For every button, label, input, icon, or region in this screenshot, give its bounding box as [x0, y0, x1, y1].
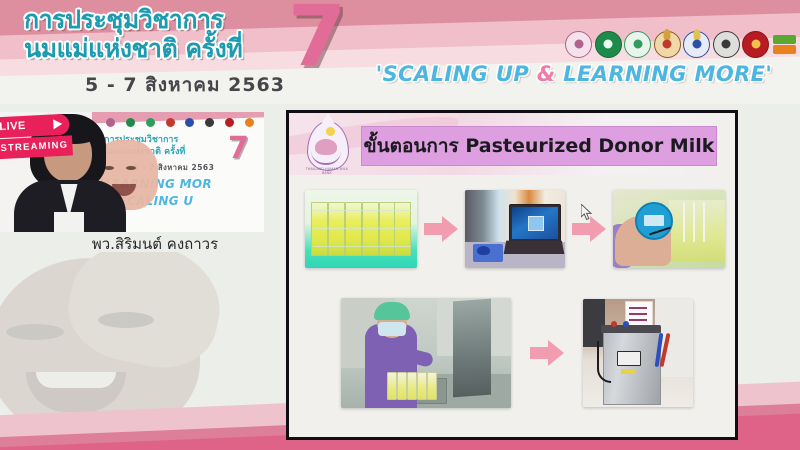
- process-row-bottom: [341, 293, 693, 413]
- conference-date: 5 - 7 สิงหาคม 2563: [80, 70, 290, 100]
- poster-logo-2: [126, 118, 135, 127]
- play-icon: [53, 119, 63, 129]
- tagline-prefix: 'SCALING UP: [376, 62, 537, 86]
- live-badge-sub: STREAMING: [0, 135, 73, 160]
- pasteurizer-machine-photo: [583, 299, 693, 407]
- thai-breastfeeding-foundation-logo: [565, 31, 592, 58]
- university-seal-logo: [713, 31, 740, 58]
- poster-logo-6: [205, 118, 214, 127]
- conference-title: การประชุมวิชาการ นมแม่แห่งชาติ ครั้งที่: [24, 4, 292, 65]
- conference-title-line2: นมแม่แห่งชาติ ครั้งที่: [24, 33, 292, 65]
- presentation-slide[interactable]: THAILAND HUMAN MILK BANK ขั้นตอนการ Past…: [286, 110, 738, 440]
- medical-council-logo: [742, 31, 769, 58]
- speaker-name-label: พว.สิริมนต์ คงถาวร: [40, 232, 270, 256]
- poster-logo-4: [166, 118, 175, 127]
- process-row-top: [305, 185, 725, 273]
- process-arrow-3: [530, 340, 564, 366]
- slide-title: ขั้นตอนการ Pasteurized Donor Milk: [361, 126, 717, 166]
- nurse-loading-bottles-photo: [341, 298, 511, 408]
- poster-logos-strip: [106, 116, 254, 128]
- live-streaming-badge: LIVE STREAMING: [0, 114, 71, 163]
- conference-tagline: 'SCALING UP & LEARNING MORE': [360, 62, 788, 86]
- royal-emblem-logo: [683, 31, 710, 58]
- conference-banner: การประชุมวิชาการ นมแม่แห่งชาติ ครั้งที่ …: [0, 0, 800, 104]
- mouse-pointer: [581, 204, 593, 221]
- poster-logo-3: [146, 118, 155, 127]
- poster-logo-7: [225, 118, 234, 127]
- royal-college-logo: [654, 31, 681, 58]
- process-arrow-1: [424, 216, 458, 242]
- ministry-public-health-logo: [595, 31, 622, 58]
- conference-title-line1: การประชุมวิชาการ: [24, 5, 223, 34]
- tagline-suffix: LEARNING MORE': [556, 62, 773, 86]
- milk-bottles-rack-photo: [305, 190, 417, 268]
- speaker-webcam-panel[interactable]: การประชุมวิชาการ นมแม่แห่งชาติ ครั้งที่ …: [0, 112, 264, 232]
- laptop-record-desk-photo: [465, 190, 565, 268]
- partner-logos-strip: [565, 27, 797, 61]
- poster-edition-number: 7: [228, 134, 249, 164]
- tagline-ampersand: &: [537, 62, 556, 86]
- human-milk-bank-drop-logo: THAILAND HUMAN MILK BANK: [301, 119, 353, 175]
- edition-number: 7: [288, 0, 346, 78]
- video-slide-screenshot: การประชุมวิชาการ นมแม่แห่งชาติ ครั้งที่ …: [0, 0, 800, 450]
- thaihealth-sss-logo: [772, 32, 797, 57]
- poster-logo-5: [185, 118, 194, 127]
- health-department-logo: [624, 31, 651, 58]
- logo-caption: THAILAND HUMAN MILK BANK: [301, 167, 353, 175]
- poster-logo-8: [245, 118, 254, 127]
- hand-holding-blue-timer-photo: [613, 190, 725, 268]
